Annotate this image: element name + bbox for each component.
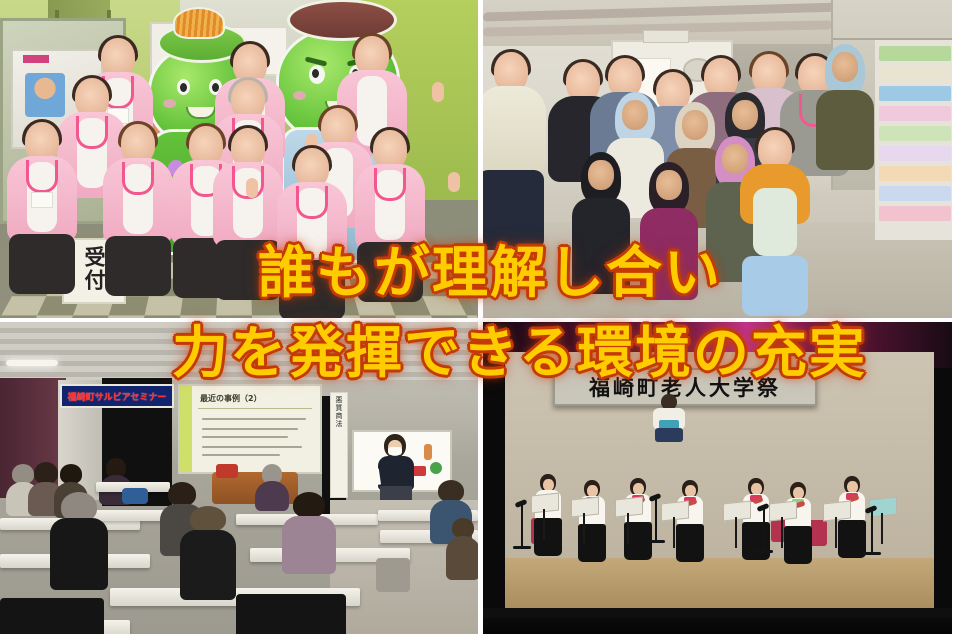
bag (216, 464, 238, 478)
stand-plate (769, 501, 797, 522)
lanyard (76, 116, 108, 149)
peace-sign-hand (246, 178, 258, 198)
seminar-banner-label: 福崎町サルビアセミナー (68, 390, 167, 403)
top (446, 536, 478, 580)
bottom-margin (0, 634, 960, 640)
lanyard (122, 162, 154, 195)
microphone-stand (863, 510, 881, 566)
door-sign (643, 30, 689, 43)
music-stand (531, 494, 557, 540)
ceiling (0, 322, 478, 380)
jacket (378, 456, 414, 490)
poster-tag (23, 55, 49, 63)
laptop (122, 488, 148, 504)
music-stand (823, 502, 849, 548)
slide-bullet (202, 454, 280, 456)
trousers (655, 428, 683, 442)
legs (105, 236, 171, 296)
mascot-cheek-left (293, 91, 306, 100)
mic-pole (521, 504, 523, 548)
mic-base (647, 540, 665, 543)
stand-plate (571, 497, 599, 518)
face (722, 144, 748, 174)
mascot-eye-left (309, 65, 325, 84)
vertical-banner-label: 悪質商法 (334, 396, 344, 428)
mic-base (513, 546, 531, 549)
face (732, 100, 758, 130)
mascot-cheek-left (163, 99, 176, 108)
photo-panel-top-right (483, 0, 952, 318)
collage-canvas: 受付 (0, 0, 960, 640)
slide-accent-bar (180, 386, 192, 472)
coat (572, 198, 630, 294)
microphone-stand (755, 508, 773, 564)
leaflet-rack (875, 40, 952, 240)
stand-pole (735, 517, 737, 548)
slide-rule (198, 408, 312, 409)
hair (168, 482, 196, 506)
hair (60, 464, 82, 484)
jacket (50, 518, 108, 590)
hair (452, 518, 474, 538)
attendee (282, 492, 336, 572)
magnet-orange (424, 444, 432, 460)
stand-plate (661, 501, 689, 522)
hair (293, 492, 325, 518)
top (282, 516, 336, 574)
lanyard (26, 160, 58, 193)
seminar-banner: 福崎町サルビアセミナー (60, 384, 174, 408)
mic-pole (655, 498, 657, 542)
audience-area (483, 618, 952, 634)
peace-sign-hand (432, 82, 444, 102)
stand-pole (543, 509, 545, 540)
face (588, 160, 614, 190)
name-badge (31, 192, 53, 208)
hat (190, 506, 226, 532)
stand-plate (531, 493, 559, 514)
lanyard (374, 168, 406, 201)
mascot-eye-left (177, 79, 190, 95)
legs (357, 242, 423, 302)
legs (279, 260, 345, 318)
seated-performer (653, 394, 685, 442)
stand-pole (835, 517, 837, 548)
handout-paper (357, 469, 381, 488)
chair (0, 598, 104, 634)
photo-panel-bottom-right: 福崎町老人大学祭 (483, 322, 952, 634)
legs (9, 234, 75, 294)
scene-stage-performance: 福崎町老人大学祭 (483, 322, 952, 634)
stand-plate (615, 497, 643, 518)
slide-bullet (202, 446, 302, 448)
stand-pole (583, 513, 585, 544)
mic-base (863, 552, 881, 555)
slide-bullet (202, 428, 298, 430)
floral-apron (483, 86, 546, 172)
microphone-stand (513, 504, 531, 560)
magnet-red (412, 466, 426, 476)
mascot-mouth (186, 107, 216, 119)
legs (215, 240, 281, 300)
hair (438, 480, 464, 502)
jeans (742, 256, 808, 316)
music-stand (723, 502, 749, 548)
jacket (180, 530, 236, 600)
chair (376, 558, 410, 592)
right-margin (952, 0, 960, 640)
face (656, 170, 682, 200)
attendee (180, 506, 236, 598)
stand-pole (781, 517, 783, 548)
face (832, 52, 858, 82)
mic-base (755, 550, 773, 553)
photo-grid: 受付 (0, 0, 960, 640)
microphone-stand (647, 498, 665, 554)
projection-screen: 最近の事例（2） (178, 384, 322, 474)
slide-bullet (202, 436, 288, 438)
magenta-jacket (640, 208, 698, 300)
face (622, 100, 648, 130)
magnet-green (430, 462, 442, 474)
lanyard (296, 186, 328, 219)
chair (236, 594, 346, 634)
music-stand (571, 498, 597, 544)
attendee (50, 492, 108, 588)
mic-pole (763, 508, 765, 552)
ceiling-light (6, 360, 58, 366)
overall-dress (753, 188, 797, 256)
slide-title: 最近の事例（2） (200, 393, 262, 404)
festival-banner: 福崎町老人大学祭 (553, 368, 817, 406)
vertical-banner: 悪質商法 (330, 392, 348, 498)
stand-pole (673, 517, 675, 548)
stand-plate (823, 501, 851, 522)
slide-bullet (202, 418, 306, 420)
jacket (816, 90, 874, 170)
scene-multicultural-group (483, 0, 952, 318)
peace-sign-hand (448, 172, 460, 192)
festival-banner-label: 福崎町老人大学祭 (589, 372, 781, 402)
scene-volunteers-with-mascots: 受付 (0, 0, 478, 318)
attendee (446, 518, 478, 578)
stand-pole (881, 513, 883, 544)
face-mask (388, 447, 402, 455)
mic-pole (871, 510, 873, 554)
mascot-noodle-hat (173, 7, 225, 39)
photo-panel-bottom-left: 福崎町サルビアセミナー 最近の事例（2） 悪質商法 (0, 322, 478, 634)
music-stand (615, 498, 641, 544)
stand-plate (723, 501, 751, 522)
legs (483, 170, 544, 250)
presenter (378, 434, 414, 506)
scene-seminar-room: 福崎町サルビアセミナー 最近の事例（2） 悪質商法 (0, 322, 478, 634)
stand-pole (627, 513, 629, 544)
photo-panel-top-left: 受付 (0, 0, 478, 318)
face (682, 110, 708, 140)
